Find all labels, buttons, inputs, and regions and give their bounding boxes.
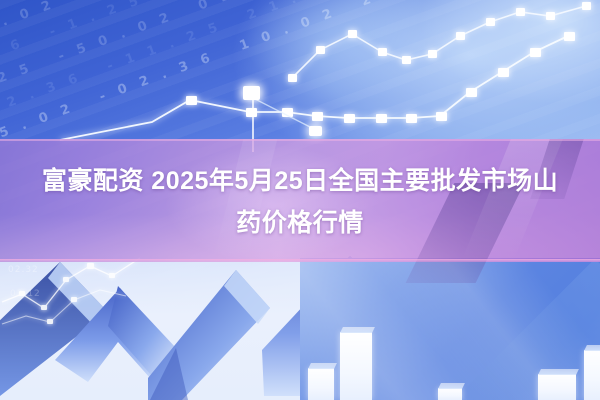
banner-image: -02.36 -11.25 21.98 45.02 -02.36 -11.25 …	[0, 0, 600, 400]
line-series-upper	[288, 2, 591, 82]
bar-item	[584, 350, 600, 400]
bar-item	[438, 388, 462, 400]
banner-title-line-1: 富豪配资 2025年5月25日全国主要批发市场山	[42, 167, 558, 195]
banner-title-line-2: 药价格行情	[14, 202, 586, 244]
band-top-edge	[0, 139, 600, 141]
bar-item	[340, 332, 372, 400]
mini-ticker-label-2: 03.12	[10, 289, 41, 299]
bar-item	[308, 368, 334, 400]
banner-title: 富豪配资 2025年5月25日全国主要批发市场山 药价格行情	[0, 160, 600, 244]
mini-ticker-label-1: 02.32	[8, 265, 39, 275]
bar-item	[538, 374, 576, 400]
band-bottom-edge	[0, 259, 600, 262]
